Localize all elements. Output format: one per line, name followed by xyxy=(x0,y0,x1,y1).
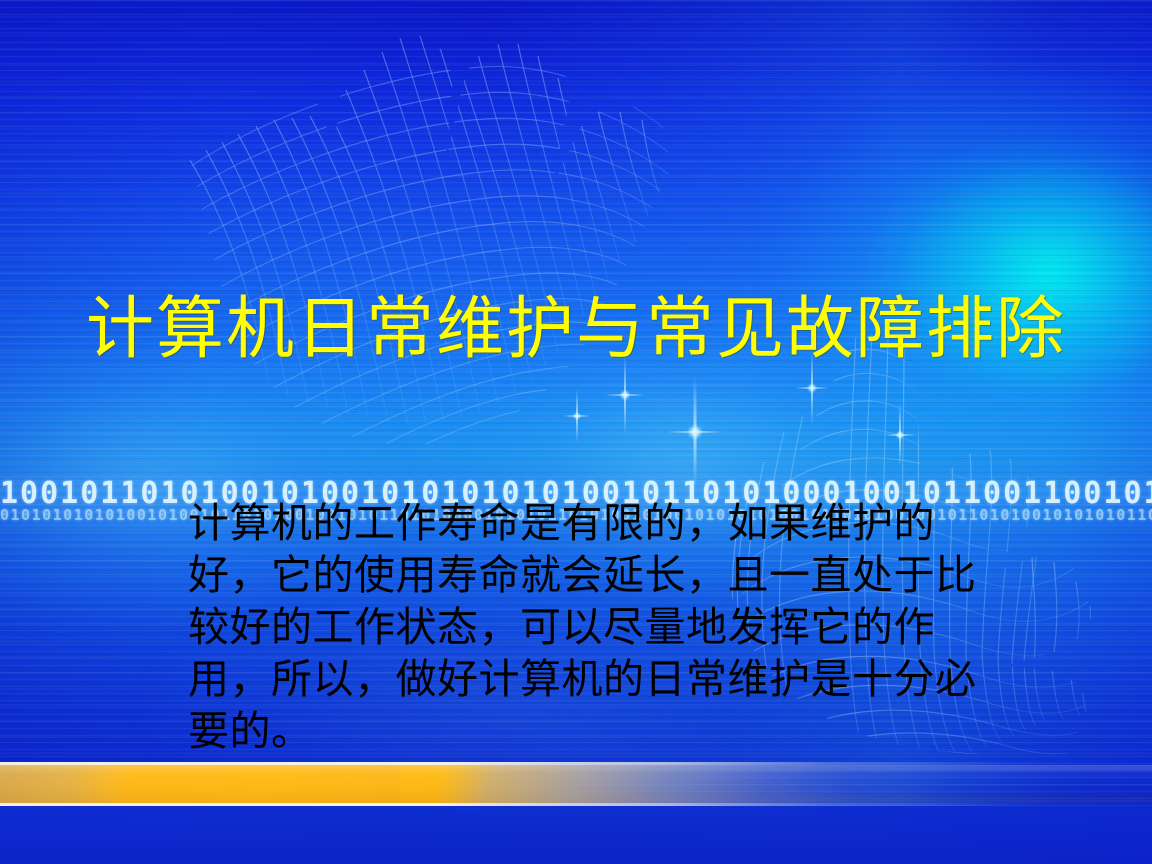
presentation-slide: 1001011010100101001010101010100101101010… xyxy=(0,0,1152,864)
footer-lower-band-sheen xyxy=(0,806,1152,864)
footer-accent-bar xyxy=(0,762,1152,810)
slide-body-text: 计算机的工作寿命是有限的，如果维护的好，它的使用寿命就会延长，且一直处于比较好的… xyxy=(188,497,978,757)
slide-title: 计算机日常维护与常见故障排除 xyxy=(0,291,1152,369)
footer-bar-sheen xyxy=(0,765,1152,803)
